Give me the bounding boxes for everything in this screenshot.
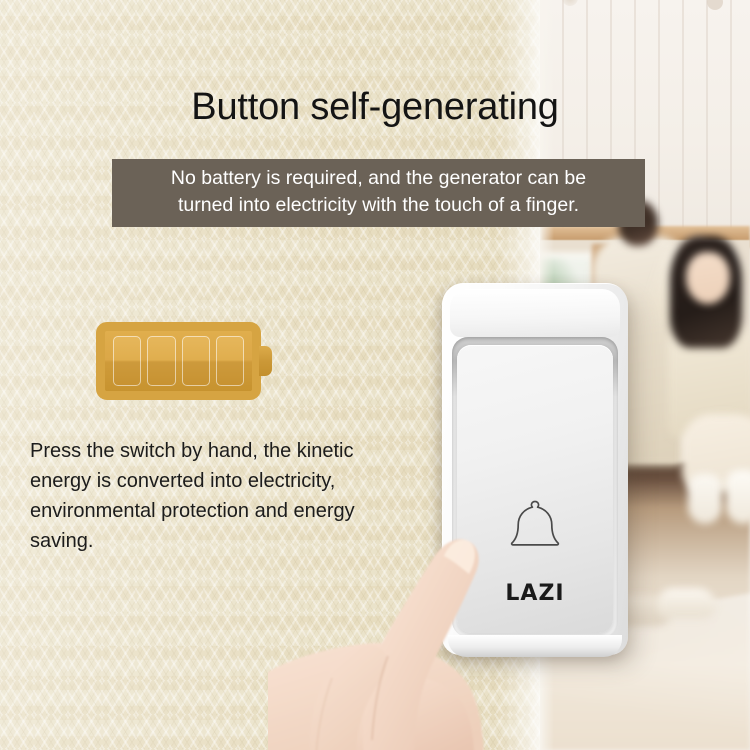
caption-line-2: turned into electricity with the touch o… [120, 192, 637, 219]
battery-shell [96, 322, 261, 400]
seated-child-face [686, 252, 730, 304]
child-sock-left [688, 474, 722, 524]
description-line-4: saving. [30, 526, 430, 556]
battery-full-icon [96, 322, 271, 400]
battery-cell-4 [216, 336, 244, 386]
caption-line-1: No battery is required, and the generato… [120, 165, 637, 192]
slipper-right [658, 588, 716, 618]
page-title: Button self-generating [0, 84, 750, 130]
caption-banner: No battery is required, and the generato… [112, 159, 645, 227]
battery-terminal [259, 346, 272, 376]
brand-label: LAZI [442, 581, 628, 606]
feature-description: Press the switch by hand, the kinetic en… [30, 436, 430, 556]
battery-cell-2 [147, 336, 175, 386]
wireless-doorbell-push-button[interactable]: LAZI [442, 283, 628, 655]
product-feature-poster: Button self-generating No battery is req… [0, 0, 750, 750]
description-line-3: environmental protection and energy [30, 496, 430, 526]
battery-cell-3 [182, 336, 210, 386]
child-sock-right [726, 470, 750, 524]
doorbell-base [448, 635, 622, 657]
battery-cell-1 [113, 336, 141, 386]
description-line-1: Press the switch by hand, the kinetic [30, 436, 430, 466]
description-line-2: energy is converted into electricity, [30, 466, 430, 496]
doorbell-top-gloss [450, 289, 620, 337]
bell-outline-icon [500, 495, 570, 559]
